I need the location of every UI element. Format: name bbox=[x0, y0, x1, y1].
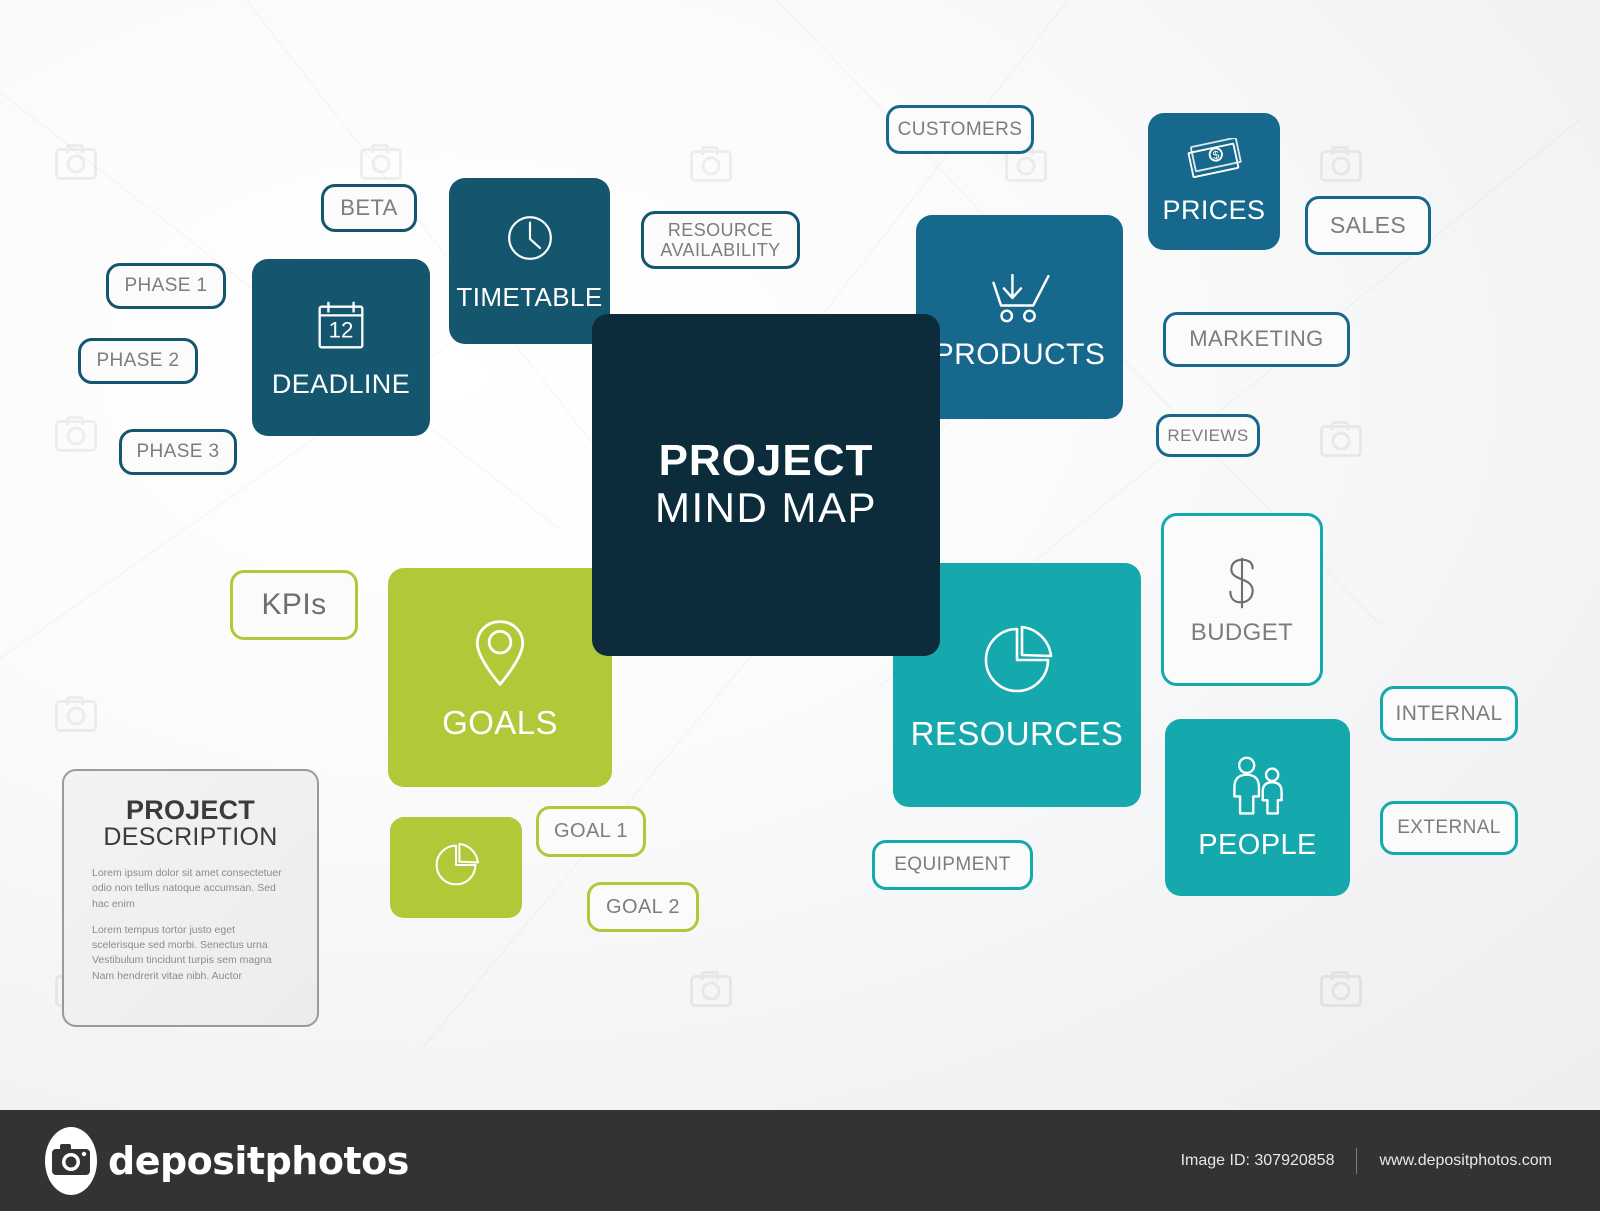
node-people[interactable]: PEOPLE bbox=[1165, 719, 1350, 896]
chip-sales[interactable]: SALES bbox=[1305, 196, 1431, 255]
chip-equipment[interactable]: EQUIPMENT bbox=[872, 840, 1033, 890]
chip-label: RESOURCE AVAILABILITY bbox=[652, 220, 789, 260]
chip-budget[interactable]: BUDGET bbox=[1161, 513, 1323, 686]
shopping-cart-icon bbox=[984, 263, 1056, 334]
brand-name: depositphotos bbox=[108, 1139, 409, 1183]
node-prices[interactable]: $ PRICES bbox=[1148, 113, 1280, 250]
node-label: PRICES bbox=[1163, 195, 1266, 226]
chip-goal-1[interactable]: GOAL 1 bbox=[536, 806, 646, 857]
watermark-camera-icon bbox=[55, 700, 97, 732]
node-label: PRODUCTS bbox=[934, 338, 1106, 372]
footer-divider bbox=[1356, 1148, 1357, 1174]
chip-label: BUDGET bbox=[1191, 620, 1293, 647]
pie-chart-small-icon bbox=[429, 838, 483, 897]
camera-logo-icon bbox=[44, 1125, 98, 1197]
node-label: GOALS bbox=[442, 704, 558, 742]
watermark-camera-icon bbox=[690, 150, 732, 182]
pie-chart-icon bbox=[975, 618, 1059, 707]
watermark-camera-icon bbox=[55, 420, 97, 452]
node-deadline[interactable]: 12 DEADLINE bbox=[252, 259, 430, 436]
watermark-camera-icon bbox=[1320, 425, 1362, 457]
chip-label: REVIEWS bbox=[1167, 426, 1248, 445]
chip-customers[interactable]: CUSTOMERS bbox=[886, 105, 1034, 154]
dollar-sign-icon bbox=[1219, 553, 1265, 618]
depositphotos-logo: depositphotos bbox=[44, 1125, 409, 1197]
chip-kpis[interactable]: KPIs bbox=[230, 570, 358, 640]
chip-label: GOAL 2 bbox=[606, 896, 680, 918]
chip-phase-2[interactable]: PHASE 2 bbox=[78, 338, 198, 384]
description-paragraph-2: Lorem tempus tortor justo eget scelerisq… bbox=[92, 923, 289, 984]
calendar-12-icon: 12 bbox=[310, 296, 372, 363]
watermark-footer: depositphotos Image ID: 307920858 www.de… bbox=[0, 1110, 1600, 1211]
chip-label: GOAL 1 bbox=[554, 820, 628, 842]
watermark-camera-icon bbox=[1320, 975, 1362, 1007]
chip-label: BETA bbox=[340, 196, 397, 221]
central-node[interactable]: PROJECT MIND MAP bbox=[592, 314, 940, 656]
chip-label: MARKETING bbox=[1189, 327, 1323, 352]
footer-meta: Image ID: 307920858 www.depositphotos.co… bbox=[1181, 1148, 1552, 1174]
chip-label: PHASE 3 bbox=[136, 441, 219, 462]
chip-phase-1[interactable]: PHASE 1 bbox=[106, 263, 226, 309]
chip-label: SALES bbox=[1330, 213, 1406, 239]
chip-label: KPIs bbox=[262, 588, 327, 622]
clock-icon bbox=[501, 209, 559, 272]
node-label: RESOURCES bbox=[911, 715, 1124, 753]
chip-label: INTERNAL bbox=[1395, 702, 1502, 726]
svg-text:$: $ bbox=[1212, 149, 1221, 162]
node-label: TIMETABLE bbox=[456, 282, 602, 313]
chip-marketing[interactable]: MARKETING bbox=[1163, 312, 1350, 367]
central-title-light: MIND MAP bbox=[655, 484, 877, 531]
node-goals[interactable]: GOALS bbox=[388, 568, 612, 787]
node-timetable[interactable]: TIMETABLE bbox=[449, 178, 610, 344]
chip-external[interactable]: EXTERNAL bbox=[1380, 801, 1518, 855]
site-url: www.depositphotos.com bbox=[1379, 1152, 1552, 1170]
map-pin-icon bbox=[464, 613, 536, 698]
node-products[interactable]: PRODUCTS bbox=[916, 215, 1123, 419]
svg-text:12: 12 bbox=[329, 317, 354, 342]
node-goals-sub[interactable] bbox=[390, 817, 522, 918]
description-heading-bold: PROJECT bbox=[92, 797, 289, 824]
chip-reviews[interactable]: REVIEWS bbox=[1156, 414, 1260, 457]
watermark-camera-icon bbox=[1005, 150, 1047, 182]
chip-phase-3[interactable]: PHASE 3 bbox=[119, 429, 237, 475]
watermark-camera-icon bbox=[690, 975, 732, 1007]
chip-beta[interactable]: BETA bbox=[321, 184, 417, 232]
chip-label: PHASE 2 bbox=[96, 350, 179, 371]
two-people-icon bbox=[1224, 754, 1292, 825]
banknotes-icon: $ bbox=[1184, 138, 1244, 193]
description-paragraph-1: Lorem ipsum dolor sit amet consectetuer … bbox=[92, 866, 289, 912]
watermark-camera-icon bbox=[360, 148, 402, 180]
node-label: PEOPLE bbox=[1198, 829, 1316, 862]
project-description-card: PROJECT DESCRIPTION Lorem ipsum dolor si… bbox=[62, 769, 319, 1027]
image-id: Image ID: 307920858 bbox=[1181, 1152, 1335, 1170]
chip-label: PHASE 1 bbox=[124, 275, 207, 296]
watermark-camera-icon bbox=[55, 148, 97, 180]
chip-internal[interactable]: INTERNAL bbox=[1380, 686, 1518, 741]
chip-goal-2[interactable]: GOAL 2 bbox=[587, 882, 699, 932]
mindmap-canvas: PHASE 1 PHASE 2 PHASE 3 BETA 12 DEADLINE bbox=[0, 0, 1600, 1110]
chip-label: EQUIPMENT bbox=[894, 854, 1011, 875]
node-label: DEADLINE bbox=[272, 369, 410, 400]
central-title-bold: PROJECT bbox=[659, 439, 874, 484]
watermark-camera-icon bbox=[1320, 150, 1362, 182]
chip-label: CUSTOMERS bbox=[898, 119, 1023, 140]
description-heading-light: DESCRIPTION bbox=[92, 824, 289, 850]
chip-label: EXTERNAL bbox=[1397, 817, 1501, 838]
chip-resource-availability[interactable]: RESOURCE AVAILABILITY bbox=[641, 211, 800, 269]
